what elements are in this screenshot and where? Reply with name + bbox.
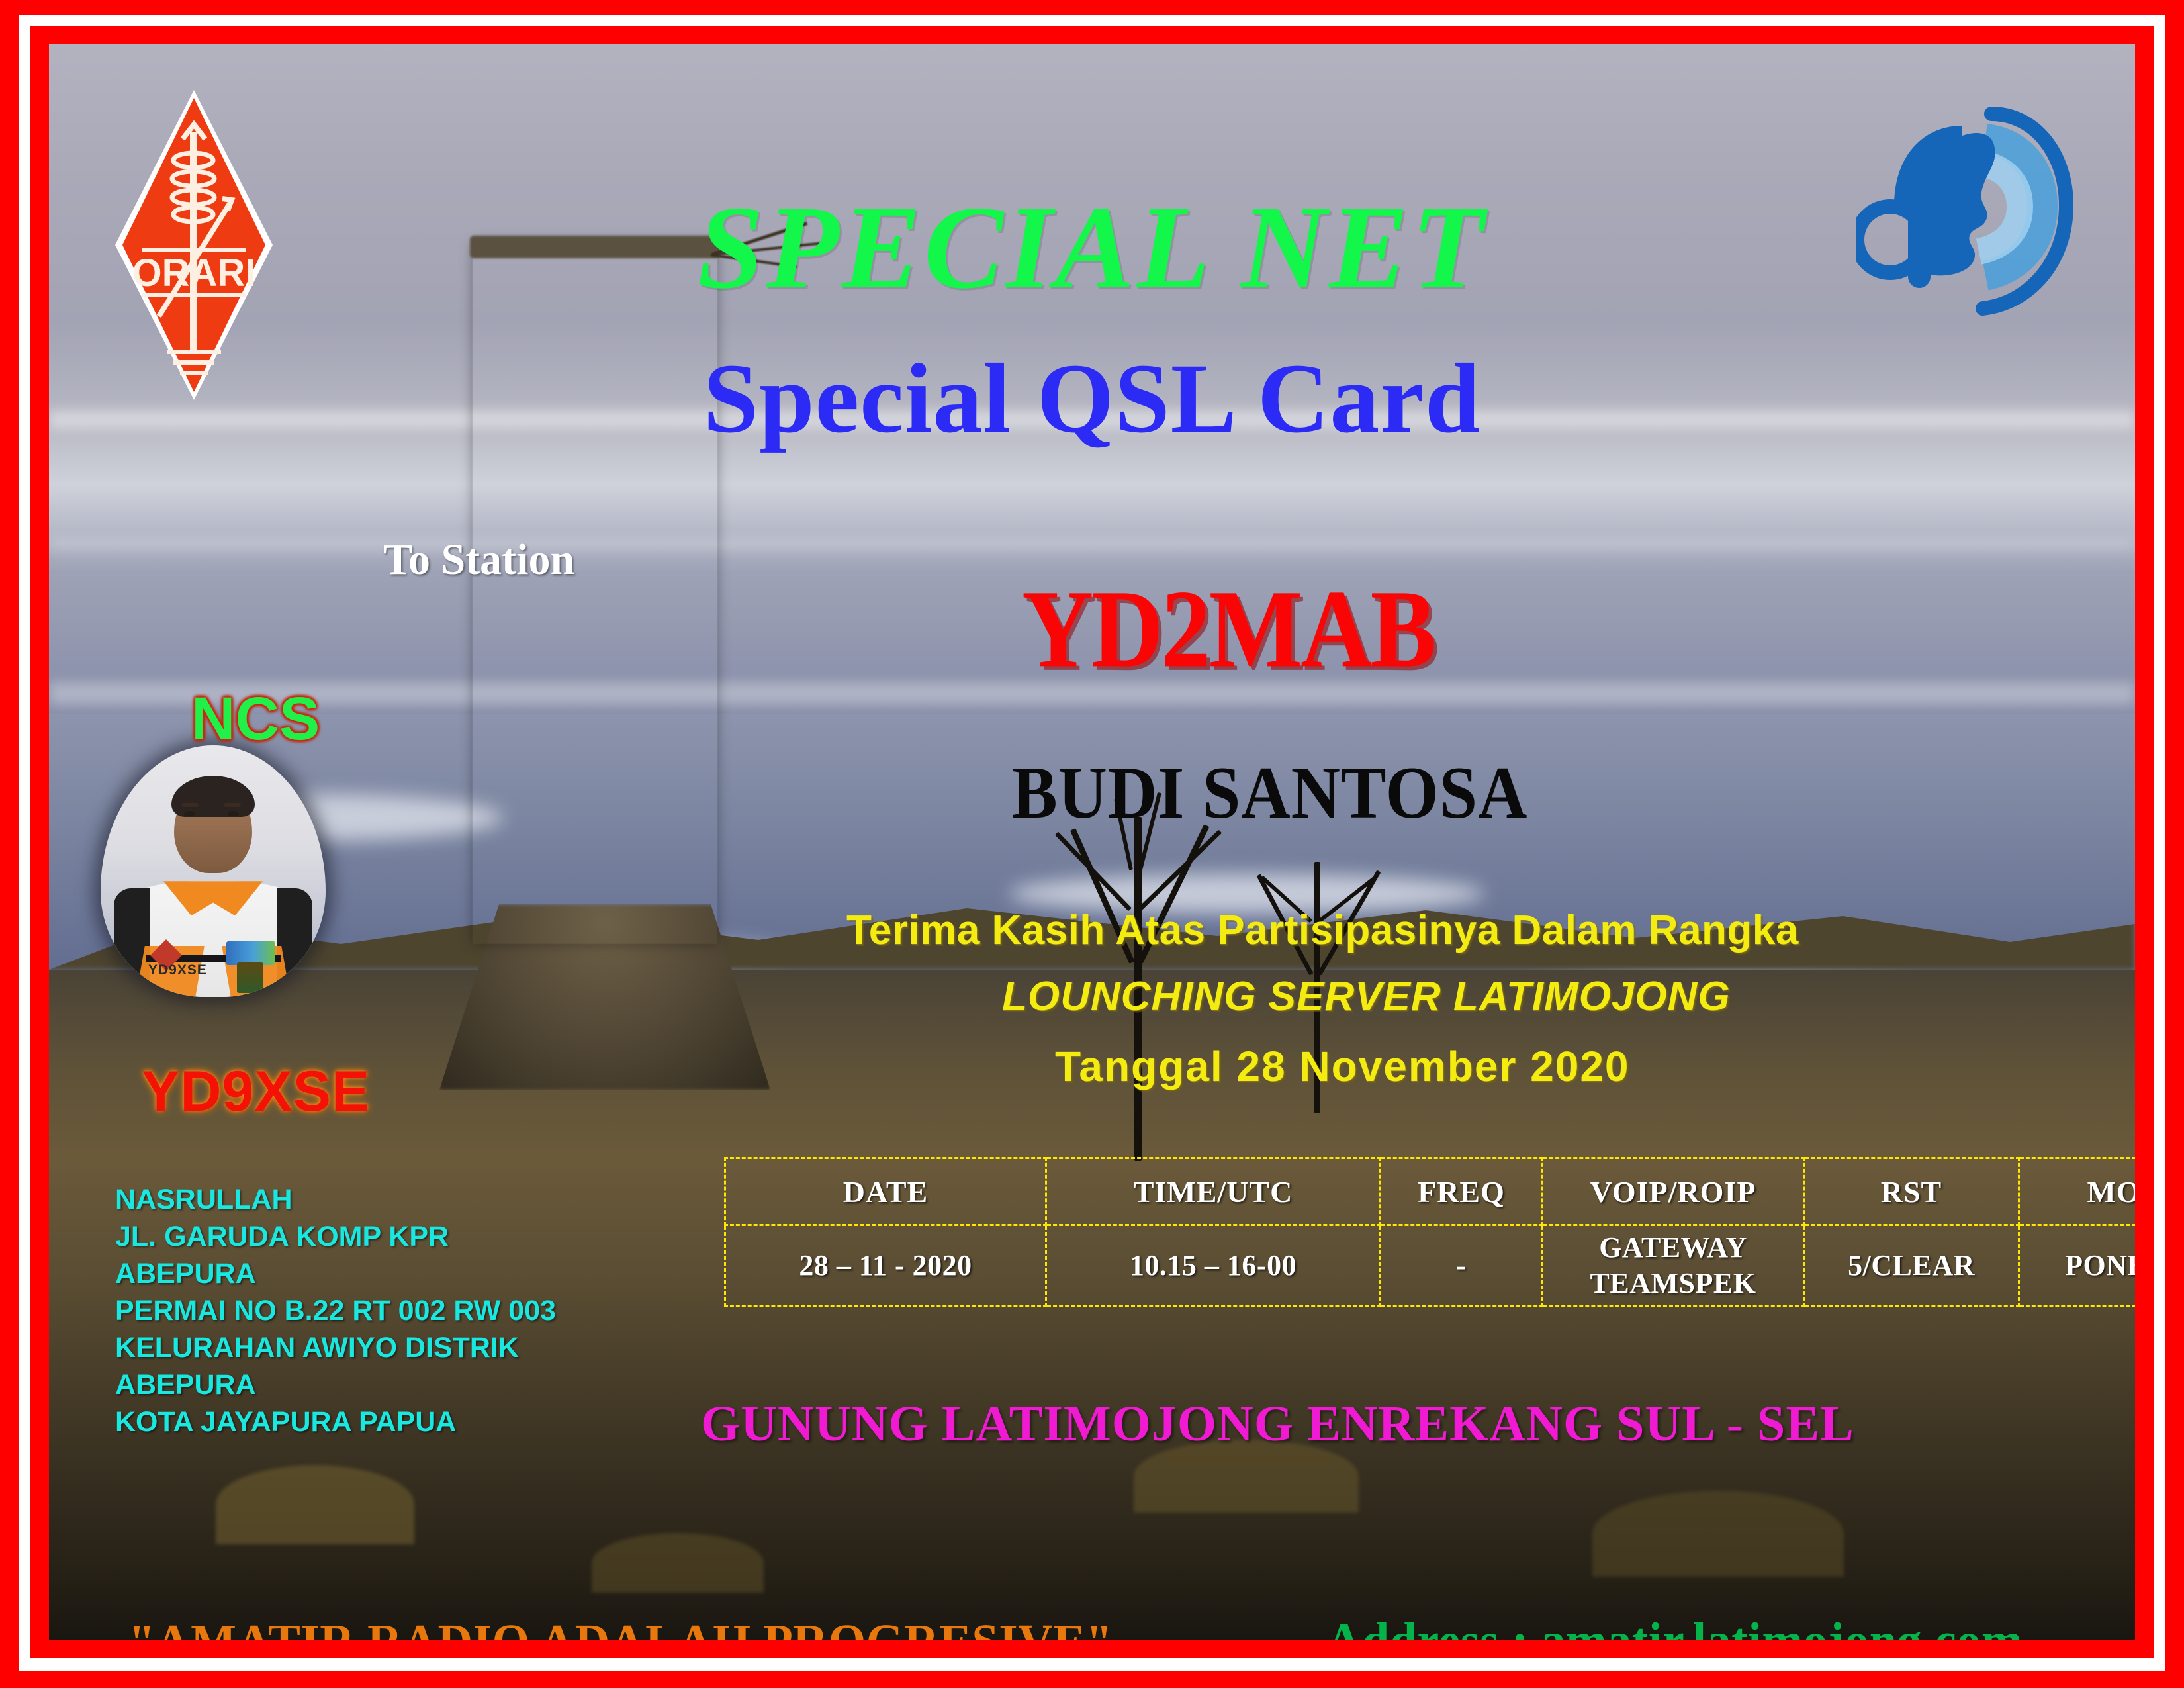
- address-line: KOTA JAYAPURA PAPUA: [115, 1403, 556, 1440]
- operator-eye: [228, 811, 239, 816]
- footer-web-address: Address : amatir.latimojong.com: [1326, 1611, 2023, 1640]
- table-header-rst: RST: [1804, 1158, 2019, 1225]
- footer-slogan: "AMATIR RADIO ADALAH PROGRESIVE": [128, 1614, 1113, 1640]
- to-station-label: To Station: [383, 535, 574, 585]
- cloud-streak: [49, 539, 2135, 549]
- table-cell-mode: PONE/CW: [2019, 1225, 2136, 1307]
- grass-tuft: [1592, 1491, 1844, 1577]
- page-subtitle-qsl-card: Special QSL Card: [704, 342, 1481, 455]
- event-title-line: LOUNCHING SERVER LATIMOJONG: [1002, 973, 1731, 1020]
- table-header-mode: MODE: [2019, 1158, 2136, 1225]
- operator-brow: [224, 803, 241, 807]
- operator-brow: [181, 803, 199, 807]
- table-header-row: DATE TIME/UTC FREQ VOIP/ROIP RST MODE: [725, 1158, 2136, 1225]
- uniform-id-tag: [237, 962, 263, 993]
- address-line: JL. GARUDA KOMP KPR: [115, 1218, 556, 1255]
- table-header-freq: FREQ: [1381, 1158, 1543, 1225]
- table-header-date: DATE: [725, 1158, 1046, 1225]
- qso-details-table: DATE TIME/UTC FREQ VOIP/ROIP RST MODE 28…: [724, 1157, 2135, 1307]
- orari-logo: ORARI: [111, 86, 277, 404]
- uniform-collar: [163, 881, 263, 915]
- orari-logo-label: ORARI: [132, 252, 256, 295]
- table-header-time: TIME/UTC: [1046, 1158, 1381, 1225]
- table-row: 28 – 11 - 2020 10.15 – 16-00 - GATEWAY T…: [725, 1225, 2136, 1307]
- location-caption: GUNUNG LATIMOJONG ENREKANG SUL - SEL: [701, 1395, 1854, 1453]
- ncs-operator-photo: YD9XSE: [101, 745, 326, 997]
- qsl-card: ORARI: [0, 0, 2184, 1688]
- address-line: ABEPURA: [115, 1255, 556, 1292]
- net-radio-logo: [1856, 99, 2074, 318]
- table-cell-freq: -: [1381, 1225, 1543, 1307]
- operator-eye: [184, 811, 195, 816]
- table-cell-voip: GATEWAY TEAMSPEK: [1543, 1225, 1804, 1307]
- event-date-line: Tanggal 28 November 2020: [1055, 1042, 1630, 1091]
- table-cell-time: 10.15 – 16-00: [1046, 1225, 1381, 1307]
- table-header-voip: VOIP/ROIP: [1543, 1158, 1804, 1225]
- operator-uniform: YD9XSE: [114, 881, 312, 997]
- ncs-label: NCS: [191, 684, 320, 754]
- grass-tuft: [216, 1465, 414, 1544]
- station-operator-name: BUDI SANTOSA: [1012, 751, 1527, 836]
- page-title-special-net: SPECIAL NET: [698, 179, 1487, 316]
- uniform-badge: [226, 941, 275, 965]
- card-photo-background: ORARI: [49, 44, 2135, 1640]
- ncs-address-block: NASRULLAH JL. GARUDA KOMP KPR ABEPURA PE…: [115, 1181, 556, 1440]
- address-line: ABEPURA: [115, 1366, 556, 1403]
- stone-monument-pillar: [473, 242, 717, 944]
- ncs-callsign: YD9XSE: [142, 1059, 370, 1125]
- table-cell-date: 28 – 11 - 2020: [725, 1225, 1046, 1307]
- table-cell-rst: 5/CLEAR: [1804, 1225, 2019, 1307]
- grass-tuft: [592, 1533, 764, 1593]
- address-line: NASRULLAH: [115, 1181, 556, 1218]
- address-line: KELURAHAN AWIYO DISTRIK: [115, 1329, 556, 1366]
- uniform-callsign-label: YD9XSE: [148, 962, 207, 978]
- station-callsign: YD2MAB: [1022, 565, 1435, 693]
- event-thanks-line: Terima Kasih Atas Partisipasinya Dalam R…: [846, 907, 1799, 954]
- address-line: PERMAI NO B.22 RT 002 RW 003: [115, 1292, 556, 1329]
